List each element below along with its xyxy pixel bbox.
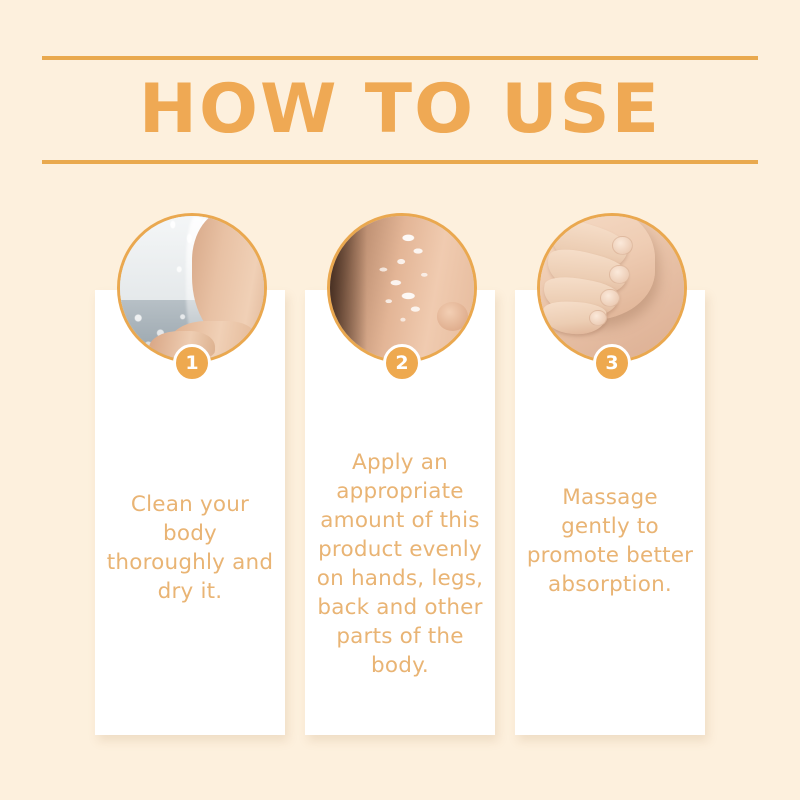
dry-flaky-skin-photo (327, 213, 477, 363)
skin-flakes (362, 222, 451, 354)
steps-container: Clean your body thoroughly and dry it. A… (0, 0, 800, 800)
fingernail-3 (600, 289, 619, 307)
how-to-use-infographic: HOW TO USE Clean your body thoroughly an… (0, 0, 800, 800)
step-badge-2: 2 (383, 344, 421, 382)
shower-feet-scene (120, 216, 264, 360)
step-2-text: Apply an appropriate amount of this prod… (315, 448, 485, 680)
step-badge-1: 1 (173, 344, 211, 382)
shower-feet-photo (117, 213, 267, 363)
hand-massaging-skin-photo (537, 213, 687, 363)
step-1-text: Clean your body thoroughly and dry it. (105, 489, 275, 605)
fingernail-4 (589, 310, 607, 326)
fingernail-1 (612, 236, 633, 255)
step-badge-3: 3 (593, 344, 631, 382)
fingernail-2 (609, 265, 630, 284)
step-3-text: Massage gently to promote better absorpt… (525, 482, 695, 598)
massage-scene (540, 216, 684, 360)
dry-skin-scene (330, 216, 474, 360)
